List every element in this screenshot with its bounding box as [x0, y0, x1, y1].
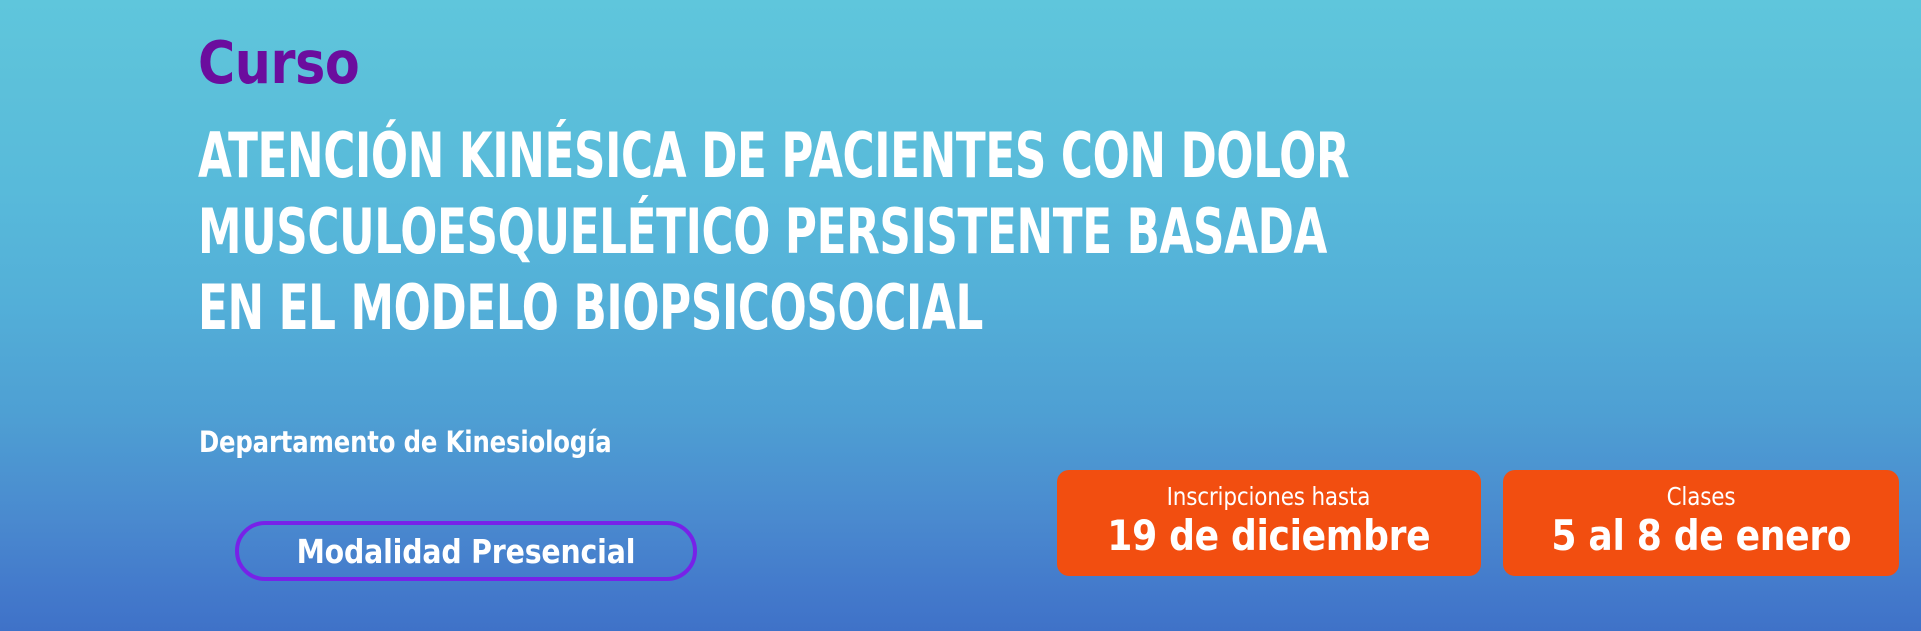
- enrollment-deadline-caption: Inscripciones hasta: [1167, 482, 1371, 512]
- date-badge-group: Inscripciones hasta 19 de diciembre Clas…: [1057, 470, 1899, 576]
- banner-kicker: Curso: [198, 33, 359, 92]
- title-line-3: EN EL MODELO BIOPSICOSOCIAL: [198, 270, 1107, 346]
- modality-pill-label: Modalidad Presencial: [297, 535, 636, 568]
- class-dates-badge: Clases 5 al 8 de enero: [1503, 470, 1900, 576]
- title-line-1: ATENCIÓN KINÉSICA DE PACIENTES CON DOLOR: [198, 118, 1107, 194]
- enrollment-deadline-badge: Inscripciones hasta 19 de diciembre: [1057, 470, 1481, 576]
- page-title: ATENCIÓN KINÉSICA DE PACIENTES CON DOLOR…: [198, 118, 1488, 346]
- modality-pill[interactable]: Modalidad Presencial: [235, 521, 697, 581]
- class-dates-value: 5 al 8 de enero: [1551, 512, 1851, 560]
- enrollment-deadline-value: 19 de diciembre: [1107, 512, 1430, 560]
- course-promo-banner: Curso ATENCIÓN KINÉSICA DE PACIENTES CON…: [0, 0, 1921, 631]
- title-line-2: MUSCULOESQUELÉTICO PERSISTENTE BASADA: [198, 194, 1107, 270]
- department-label: Departamento de Kinesiología: [199, 428, 612, 457]
- class-dates-caption: Clases: [1666, 482, 1735, 512]
